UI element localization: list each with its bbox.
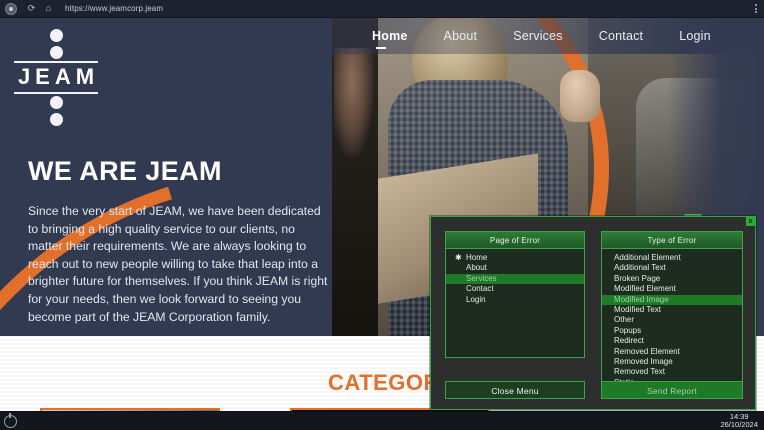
taskbar-clock[interactable]: 14:39 26/10/2024 xyxy=(720,413,758,430)
page-option-services[interactable]: Services xyxy=(446,274,584,284)
type-of-error-list[interactable]: Additional Element Additional Text Broke… xyxy=(602,249,742,392)
url-text: https://www.jeamcorp.jeam xyxy=(65,4,163,13)
logo-dot-bottom-1 xyxy=(50,96,63,109)
logo-dot-top-2 xyxy=(50,46,63,59)
taskbar: 14:39 26/10/2024 xyxy=(0,411,764,430)
nav-item-services[interactable]: Services xyxy=(513,29,563,43)
hero-paragraph: Since the very start of JEAM, we have be… xyxy=(28,203,328,326)
type-option-broken-page[interactable]: Broken Page xyxy=(602,274,742,284)
dialog-titlebar: x xyxy=(431,217,755,226)
type-option-redirect[interactable]: Redirect xyxy=(602,336,742,346)
close-icon[interactable]: x xyxy=(746,217,755,226)
page-option-about[interactable]: About xyxy=(446,263,584,273)
nav-item-home[interactable]: Home xyxy=(372,29,408,43)
logo-rule-bottom xyxy=(14,92,98,94)
reload-icon[interactable]: ⟳ xyxy=(23,0,40,17)
type-of-error-panel: Type of Error Additional Element Additio… xyxy=(601,231,743,388)
hero-photo-hand xyxy=(560,70,600,122)
page-option-contact[interactable]: Contact xyxy=(446,284,584,294)
page-option-login[interactable]: Login xyxy=(446,295,584,305)
address-bar[interactable]: https://www.jeamcorp.jeam xyxy=(65,2,742,16)
page-option-home-label: Home xyxy=(466,253,487,262)
page-option-home[interactable]: ✱ Home xyxy=(446,253,584,263)
nav-item-login[interactable]: Login xyxy=(679,29,711,43)
screen-root: ⟳ ⌂ https://www.jeamcorp.jeam xyxy=(0,0,764,430)
selected-marker-icon: ✱ xyxy=(455,253,462,263)
jeam-logo[interactable]: JEAM xyxy=(14,26,98,128)
profile-avatar-icon[interactable] xyxy=(5,3,17,15)
site-navbar: Home About Services Contact Login xyxy=(0,18,764,54)
kebab-menu-icon[interactable] xyxy=(748,0,764,18)
type-option-removed-text[interactable]: Removed Text xyxy=(602,367,742,377)
start-orb-icon[interactable] xyxy=(4,415,17,428)
clock-date: 26/10/2024 xyxy=(720,421,758,430)
page-of-error-list[interactable]: ✱ Home About Services Contact Login xyxy=(446,249,584,309)
nav-item-contact[interactable]: Contact xyxy=(599,29,643,43)
home-icon[interactable]: ⌂ xyxy=(40,0,57,17)
type-option-modified-image[interactable]: Modified Image xyxy=(602,295,742,305)
close-menu-button[interactable]: Close Menu xyxy=(445,381,585,399)
browser-toolbar: ⟳ ⌂ https://www.jeamcorp.jeam xyxy=(0,0,764,18)
type-option-other[interactable]: Other xyxy=(602,315,742,325)
type-option-modified-element[interactable]: Modified Element xyxy=(602,284,742,294)
logo-dot-bottom-2 xyxy=(50,113,63,126)
type-option-additional-element[interactable]: Additional Element xyxy=(602,253,742,263)
type-option-removed-element[interactable]: Removed Element xyxy=(602,347,742,357)
send-report-button[interactable]: Send Report xyxy=(601,381,743,399)
type-option-popups[interactable]: Popups xyxy=(602,326,742,336)
type-option-removed-image[interactable]: Removed Image xyxy=(602,357,742,367)
page-of-error-panel: Page of Error ✱ Home About Services Cont… xyxy=(445,231,585,358)
type-option-modified-text[interactable]: Modified Text xyxy=(602,305,742,315)
nav-item-about[interactable]: About xyxy=(444,29,478,43)
hero-photo-left-panel xyxy=(332,18,378,336)
page-of-error-header: Page of Error xyxy=(446,232,584,249)
logo-wordmark: JEAM xyxy=(13,63,99,92)
type-option-additional-text[interactable]: Additional Text xyxy=(602,263,742,273)
hero-heading: WE ARE JEAM xyxy=(28,156,222,187)
type-of-error-header: Type of Error xyxy=(602,232,742,249)
logo-dot-top-1 xyxy=(50,29,63,42)
error-report-dialog: x Page of Error ✱ Home About Services Co… xyxy=(430,216,756,410)
